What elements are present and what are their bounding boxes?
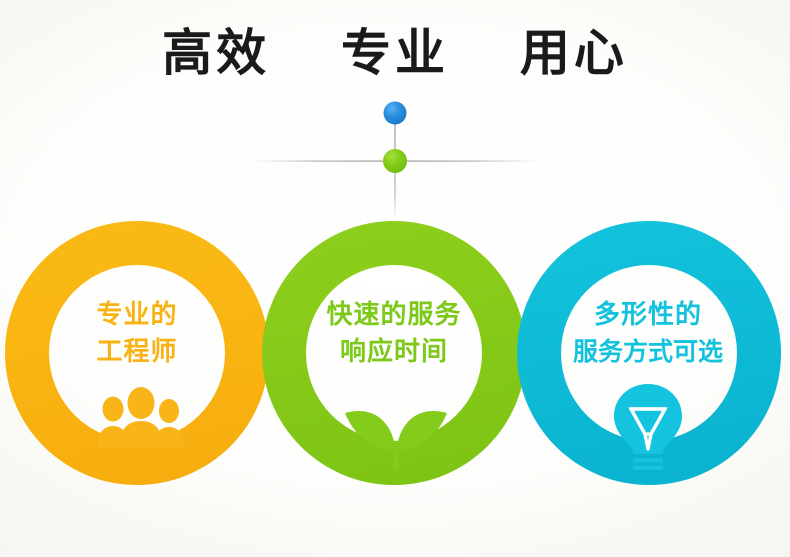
service-line-2: 服务方式可选	[523, 334, 773, 370]
service-line-1: 多形性的	[523, 297, 773, 334]
circle-label-service-modes: 多形性的 服务方式可选	[523, 297, 773, 369]
response-line-2: 响应时间	[294, 334, 494, 371]
circle-label-engineers: 专业的 工程师	[37, 297, 237, 371]
engineers-line-2: 工程师	[37, 334, 237, 371]
engineers-line-1: 专业的	[37, 297, 237, 334]
response-line-1: 快速的服务	[294, 297, 494, 334]
circle-label-response-time: 快速的服务 响应时间	[294, 297, 494, 371]
infographic-canvas: 高效 专业 用心 专业的 工程师 快速的服务 响应时间	[0, 0, 790, 557]
ring-service-modes[interactable]	[0, 0, 790, 557]
venn-rings-group	[0, 0, 790, 557]
